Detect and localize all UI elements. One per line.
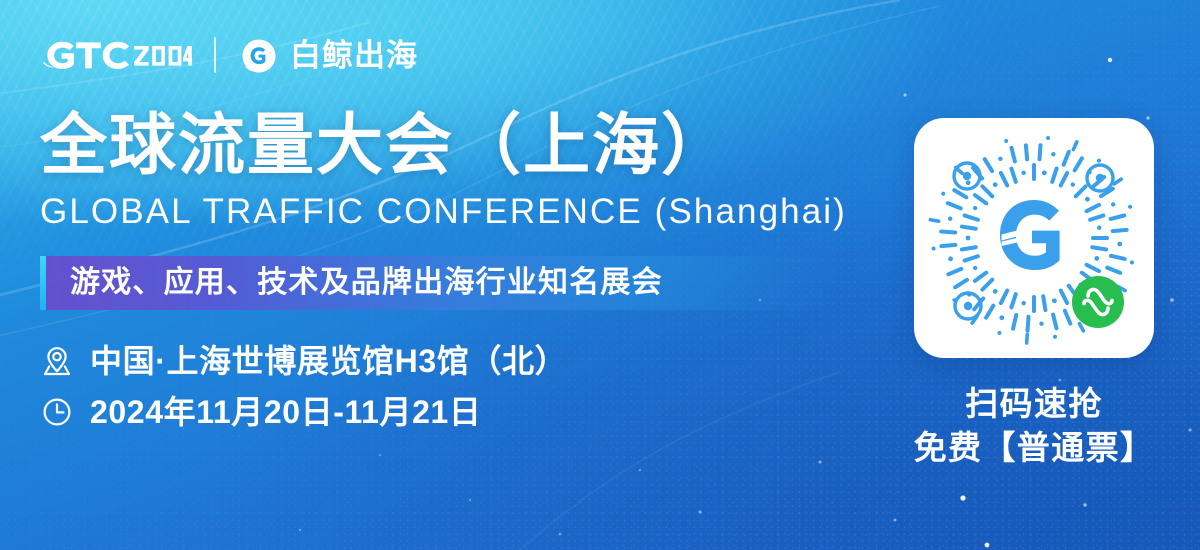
- tagline-band: 游戏、应用、技术及品牌出海行业知名展会: [40, 256, 830, 310]
- qr-cta: 扫码速抢 免费【普通票】: [914, 382, 1155, 469]
- wechat-mini-program-qr-code[interactable]: [922, 126, 1146, 350]
- date-text: 2024年11月20日-11月21日: [90, 395, 482, 430]
- wechat-miniprogram-badge-icon: [1072, 276, 1124, 328]
- info-row-venue: 中国·上海世博展览馆H3馆（北）: [40, 344, 860, 379]
- qr-column: 扫码速抢 免费【普通票】: [910, 118, 1158, 469]
- cta-line-1: 扫码速抢: [914, 382, 1155, 426]
- qr-card[interactable]: [914, 118, 1154, 358]
- tagline-accent-bar: [40, 256, 46, 310]
- info-row-date: 2024年11月20日-11月21日: [40, 395, 860, 430]
- location-pin-icon: [40, 344, 74, 378]
- brand-name: 白鲸出海: [290, 40, 418, 71]
- baijing-brand-logo: 白鲸出海: [238, 34, 418, 76]
- gtc-logo: [40, 35, 192, 75]
- event-banner: 白鲸出海 全球流量大会（上海） GLOBAL TRAFFIC CONFERENC…: [0, 0, 1200, 550]
- cta-line-2: 免费【普通票】: [914, 426, 1155, 470]
- main-content: 全球流量大会（上海） GLOBAL TRAFFIC CONFERENCE (Sh…: [40, 108, 860, 430]
- whale-g-circle-icon: [238, 34, 280, 76]
- venue-text: 中国·上海世博展览馆H3馆（北）: [90, 344, 567, 379]
- gtc-2024-wordmark-icon: [40, 35, 192, 75]
- logo-divider: [214, 37, 216, 73]
- clock-icon: [40, 395, 74, 429]
- page-subtitle: GLOBAL TRAFFIC CONFERENCE (Shanghai): [40, 193, 860, 232]
- event-info-list: 中国·上海世博展览馆H3馆（北） 2024年11月20日-11月21日: [40, 344, 860, 430]
- page-title: 全球流量大会（上海）: [40, 108, 860, 183]
- qr-center-logo: [1000, 200, 1060, 270]
- tagline-text: 游戏、应用、技术及品牌出海行业知名展会: [40, 268, 663, 298]
- header-logo-row: 白鲸出海: [40, 32, 418, 78]
